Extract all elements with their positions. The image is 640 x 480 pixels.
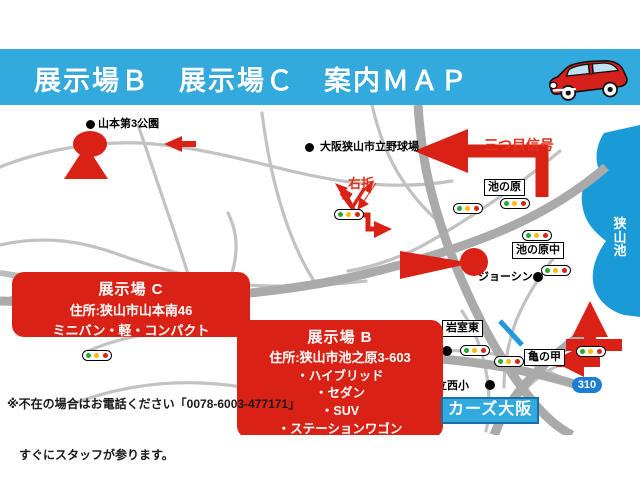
- traffic-signal-ikenoharanaka-north: [522, 230, 552, 241]
- poi-label-joshin: ジョーシン: [478, 272, 533, 283]
- poi-dot-yamamoto-park: [86, 120, 95, 129]
- junction-label-ikenohara: 池の原: [484, 179, 525, 196]
- route-shield-310: 310: [572, 377, 602, 393]
- showroom-c-vehicle-types: ミニバン・軽・コンパクト: [12, 321, 250, 341]
- annotation-third-signal: 三つ目信号: [484, 135, 554, 155]
- poi-dot-baseball-stadium: [305, 143, 314, 152]
- showroom-c-stem: [60, 145, 130, 185]
- lake-shape: [582, 125, 640, 317]
- note-line-2: すぐにスタッフが参ります。: [7, 447, 300, 464]
- junction-label-kamenoko: 亀の甲: [524, 349, 565, 366]
- junction-label-ikenoharanaka: 池の原中: [512, 242, 564, 259]
- traffic-signal-ukyoku: [334, 209, 364, 220]
- traffic-signal-ikenohara: [500, 198, 530, 209]
- annotation-right-turn: 右折: [348, 173, 374, 192]
- traffic-signal-kamenoko-approach: [494, 356, 524, 367]
- lake-label: 狭山池: [612, 217, 628, 258]
- traffic-signal-ikenohara-west: [453, 203, 483, 214]
- poi-dot-post-office: [442, 346, 452, 356]
- page-title: 展示場Ｂ 展示場Ｃ 案内ＭＡＰ: [34, 59, 469, 98]
- showroom-b-stem: [400, 245, 480, 285]
- se-arrowhead-up: [572, 301, 608, 337]
- traffic-signal-iwamurohigashi: [460, 345, 490, 356]
- map-page: 展示場Ｂ 展示場Ｃ 案内ＭＡＰ: [0, 0, 640, 480]
- poi-label-baseball-stadium: 大阪狭山市立野球場: [320, 142, 419, 153]
- red-minivan-icon: [540, 58, 632, 102]
- showroom-c-address: 住所:狭山市山本南46: [12, 301, 250, 321]
- note-line-1: ※不在の場合はお電話ください「0078-6003-477171」: [7, 396, 300, 413]
- poi-label-yamamoto-park: 山本第3公園: [98, 119, 159, 130]
- traffic-signal-kamenoko: [576, 346, 606, 357]
- dealer-label-cars-osaka[interactable]: カーズ大阪: [441, 397, 539, 424]
- poi-dot-nishi-elementary: [485, 380, 495, 390]
- showroom-c-callout[interactable]: 展示場 C 住所:狭山市山本南46 ミニバン・軽・コンパクト: [12, 272, 250, 337]
- showroom-b-name: 展示場 B: [237, 327, 443, 349]
- showroom-c-name: 展示場 C: [12, 278, 250, 301]
- junction-label-iwamurohigashi: 岩室東: [442, 320, 483, 337]
- traffic-signal-ikenoharanaka-south: [541, 265, 571, 276]
- footer-notes: ※不在の場合はお電話ください「0078-6003-477171」 すぐにスタッフ…: [7, 362, 300, 480]
- traffic-signal-iwamurohigashi-west: [82, 350, 112, 361]
